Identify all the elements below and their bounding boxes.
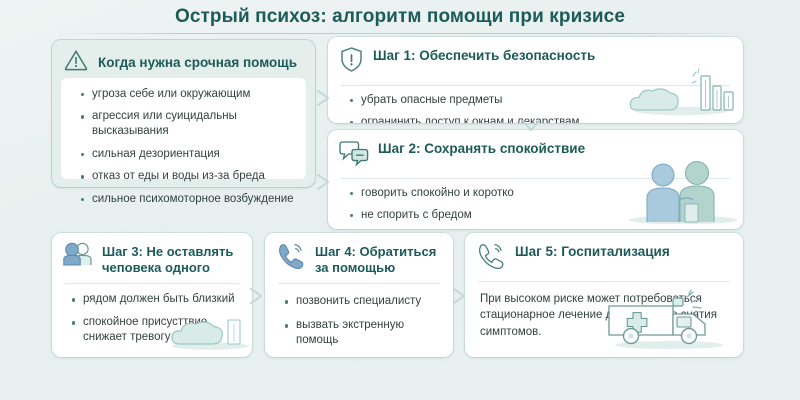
step-3-header: Шаг 3: Не оставлять чеповека одного xyxy=(52,233,252,276)
step-3-list: рядом должен быть близкий спокойное прис… xyxy=(52,284,252,345)
warning-triangle-icon xyxy=(63,48,89,77)
shield-exclamation-icon xyxy=(339,46,364,78)
phone-ringing-icon xyxy=(276,242,306,274)
panel-step-2: Шаг 2: Сохранять спокойствие говорить сп… xyxy=(328,130,743,229)
list-item: сильное психомоторное возбуждение xyxy=(81,192,296,207)
arrow-step1-to-step2 xyxy=(520,118,542,139)
arrow-step4-to-step5 xyxy=(450,286,470,311)
step-4-header: Шаг 4: Обратиться за помощью xyxy=(265,233,453,276)
list-item: позвонить специалисту xyxy=(285,294,445,309)
list-item: вызвать экстренную помощь xyxy=(285,318,445,348)
panel-step-4: Шаг 4: Обратиться за помощью позвонить с… xyxy=(265,233,453,357)
urgent-panel-body: угроза себе или окружающим агрессия или … xyxy=(61,78,306,179)
page-title: Острый психоз: алгоритм помощи при кризи… xyxy=(175,6,625,28)
speech-bubbles-icon xyxy=(339,139,369,171)
arrow-urgent-to-step2 xyxy=(314,172,334,197)
page-header: Острый психоз: алгоритм помощи при кризи… xyxy=(0,0,800,34)
urgent-panel-header: Когда нужна срочная помощь xyxy=(52,40,315,77)
list-item: не спорить с бредом xyxy=(350,208,731,223)
two-persons-icon xyxy=(63,242,93,272)
step-2-title: Шаг 2: Сохранять спокойствие xyxy=(378,139,585,158)
header-divider xyxy=(56,33,744,34)
step-4-list: позвонить специалисту вызвать экстренную… xyxy=(265,284,453,348)
step-1-title: Шаг 1: Обеспечить безопасность xyxy=(373,46,595,65)
panel-step-5: Шаг 5: Госпитализация При высоком риске … xyxy=(465,233,743,357)
panel-step-1: Шаг 1: Обеспечить безопасность убрать оп… xyxy=(328,37,743,123)
panel-step-3: Шаг 3: Не оставлять чеповека одного рядо… xyxy=(52,233,252,357)
list-item: убрать опасные предметы xyxy=(350,93,731,108)
list-item: отказ от еды и воды из-за бреда xyxy=(81,169,296,184)
step-3-title: Шаг 3: Не оставлять чеповека одного xyxy=(102,242,240,276)
panel-urgent-help: Когда нужна срочная помощь угроза себе и… xyxy=(52,40,315,187)
step-1-header: Шаг 1: Обеспечить безопасность xyxy=(328,37,743,78)
step-4-title: Шаг 4: Обратиться за помощью xyxy=(315,242,441,276)
arrow-urgent-to-step1 xyxy=(314,88,334,113)
arrow-step3-to-step4 xyxy=(247,286,267,311)
list-item: спокойное присусттвие снижает тревогу xyxy=(72,315,242,345)
list-item: рядом должен быть близкий xyxy=(72,292,242,307)
list-item: агрессия или суицидальны высказывания xyxy=(81,109,296,139)
urgent-panel-title: Когда нужна срочная помощь xyxy=(98,55,297,70)
urgent-symptom-list: угроза себе или окружающим агрессия или … xyxy=(61,78,306,207)
step-5-header: Шаг 5: Госпитализация xyxy=(465,233,743,274)
list-item: угроза себе или окружающим xyxy=(81,87,296,102)
step-5-title: Шаг 5: Госпитализация xyxy=(515,242,670,261)
step-2-list: говорить спокойно и коротко не спорить с… xyxy=(328,179,743,229)
phone-ringing-icon xyxy=(476,242,506,274)
step-5-paragraph: При высоком риске может потребоваться ст… xyxy=(465,282,743,340)
list-item: говорить спокойно и коротко xyxy=(350,186,731,201)
list-item: сильная дезориентация xyxy=(81,147,296,162)
